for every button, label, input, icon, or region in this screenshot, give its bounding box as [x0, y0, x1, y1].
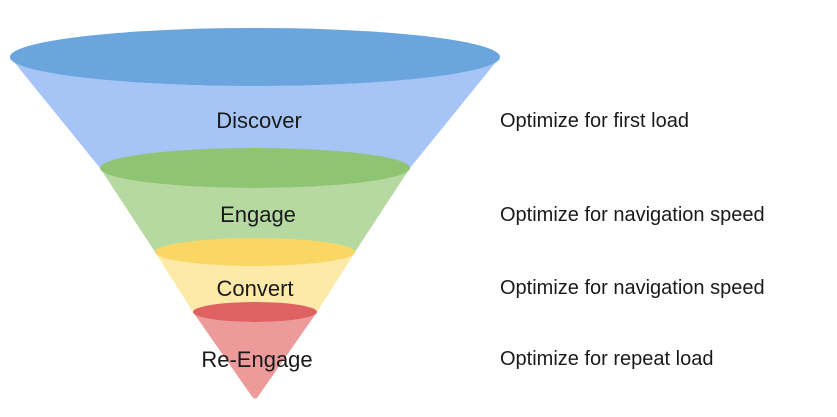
annotation-convert: Optimize for navigation speed: [500, 277, 765, 299]
funnel-diagram: Discover Engage Convert Re-Engage Optimi…: [0, 0, 837, 417]
annotation-engage: Optimize for navigation speed: [500, 204, 765, 226]
funnel-stage-label-re-engage: Re-Engage: [201, 347, 312, 372]
annotation-re-engage: Optimize for repeat load: [500, 348, 713, 370]
funnel-stage-label-engage: Engage: [220, 202, 296, 227]
funnel-stage-cap-re-engage: [193, 302, 317, 322]
funnel-stage-cap-discover: [10, 28, 500, 86]
funnel-stage-cap-engage: [100, 148, 410, 188]
funnel-stage-label-convert: Convert: [216, 276, 293, 301]
funnel-stage-label-discover: Discover: [216, 108, 302, 133]
annotation-discover: Optimize for first load: [500, 110, 689, 132]
funnel-stage-cap-convert: [155, 238, 355, 266]
